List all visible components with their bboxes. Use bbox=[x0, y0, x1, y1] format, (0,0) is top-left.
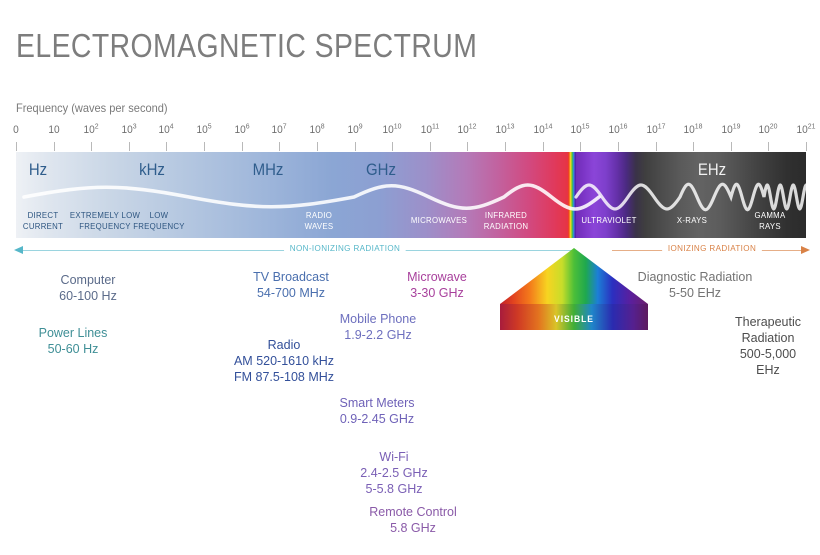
axis-tick-label: 107 bbox=[272, 124, 287, 136]
axis-tick-mark bbox=[317, 142, 318, 151]
annotation-mobile-phone: Mobile Phone 1.9-2.2 GHz bbox=[340, 311, 416, 343]
annotation-power-lines: Power Lines 50-60 Hz bbox=[39, 325, 108, 357]
spectrum-region-label: ULTRAVIOLET bbox=[581, 215, 636, 226]
axis-tick-label: 1017 bbox=[646, 124, 665, 136]
axis-tick-mark bbox=[242, 142, 243, 151]
axis-tick-mark bbox=[467, 142, 468, 151]
axis-tick-label: 1012 bbox=[458, 124, 477, 136]
annotation-radio: Radio AM 520-1610 kHz FM 87.5-108 MHz bbox=[234, 337, 334, 385]
spectrum-region-label: INFRARED RADIATION bbox=[484, 210, 528, 231]
spectrum-region-label: MICROWAVES bbox=[411, 215, 467, 226]
frequency-unit-label: MHz bbox=[253, 160, 284, 180]
axis-tick-label: 102 bbox=[84, 124, 99, 136]
spectrum-band: HzkHzMHzGHzEHz DIRECT CURRENTEXTREMELY L… bbox=[16, 152, 806, 238]
axis-tick-label: 1021 bbox=[797, 124, 816, 136]
axis-tick-mark bbox=[204, 142, 205, 151]
axis-tick-mark bbox=[618, 142, 619, 151]
non-ionizing-label: NON-IONIZING RADIATION bbox=[284, 243, 406, 253]
annotation-microwave: Microwave 3-30 GHz bbox=[407, 269, 467, 301]
axis-tick-mark bbox=[16, 142, 17, 151]
axis-tick-mark bbox=[91, 142, 92, 151]
frequency-unit-label: EHz bbox=[698, 160, 726, 180]
axis-tick-label: 105 bbox=[197, 124, 212, 136]
axis-tick-label: 1016 bbox=[608, 124, 627, 136]
ionizing-arrowhead bbox=[801, 246, 810, 254]
frequency-unit-label: Hz bbox=[29, 160, 47, 180]
annotation-computer: Computer 60-100 Hz bbox=[59, 272, 117, 304]
axis-tick-mark bbox=[731, 142, 732, 151]
axis-tick-label: 1011 bbox=[421, 124, 439, 136]
axis-tick-mark bbox=[355, 142, 356, 151]
axis-tick-mark bbox=[392, 142, 393, 151]
spectrum-region-label: DIRECT CURRENT bbox=[23, 210, 63, 231]
annotation-smart-meters: Smart Meters 0.9-2.45 GHz bbox=[339, 395, 414, 427]
axis-tick-label: 1013 bbox=[496, 124, 515, 136]
axis-tick-label: 1018 bbox=[684, 124, 703, 136]
axis-tick-mark bbox=[505, 142, 506, 151]
axis-tick-label: 106 bbox=[234, 124, 249, 136]
spectrum-region-label: RADIO WAVES bbox=[305, 210, 334, 231]
frequency-unit-label: GHz bbox=[366, 160, 396, 180]
frequency-axis-caption: Frequency (waves per second) bbox=[16, 101, 168, 115]
frequency-unit-label: kHz bbox=[139, 160, 165, 180]
visible-label: VISIBLE bbox=[554, 314, 594, 324]
axis-tick-label: 0 bbox=[13, 124, 19, 136]
spectrum-region-label: X-RAYS bbox=[677, 215, 707, 226]
axis-tick-mark bbox=[656, 142, 657, 151]
axis-tick-mark bbox=[166, 142, 167, 151]
frequency-axis-tick-marks bbox=[0, 142, 820, 152]
annotation-remote-control: Remote Control 5.8 GHz bbox=[369, 504, 457, 536]
spectrum-region-label: GAMMA RAYS bbox=[755, 210, 786, 231]
axis-tick-mark bbox=[806, 142, 807, 151]
axis-tick-label: 104 bbox=[159, 124, 174, 136]
axis-tick-label: 1019 bbox=[721, 124, 740, 136]
axis-tick-mark bbox=[543, 142, 544, 151]
axis-tick-label: 1020 bbox=[759, 124, 778, 136]
axis-tick-label: 1015 bbox=[571, 124, 590, 136]
non-ionizing-arrowhead bbox=[14, 246, 23, 254]
ionizing-label: IONIZING RADIATION bbox=[662, 243, 762, 253]
annotation-tv-broadcast: TV Broadcast 54-700 MHz bbox=[253, 269, 329, 301]
frequency-axis-tick-labels: 0101021031041051061071081091010101110121… bbox=[0, 124, 820, 142]
axis-tick-label: 1010 bbox=[383, 124, 402, 136]
axis-tick-label: 1014 bbox=[533, 124, 552, 136]
axis-tick-mark bbox=[279, 142, 280, 151]
annotation-wifi: Wi-Fi 2.4-2.5 GHz 5-5.8 GHz bbox=[360, 449, 427, 497]
electromagnetic-spectrum-infographic: ELECTROMAGNETIC SPECTRUM Frequency (wave… bbox=[0, 0, 820, 555]
axis-tick-mark bbox=[54, 142, 55, 151]
axis-tick-label: 10 bbox=[48, 124, 59, 136]
annotation-diagnostic-radiation: Diagnostic Radiation 5-50 EHz bbox=[638, 269, 753, 301]
axis-tick-mark bbox=[693, 142, 694, 151]
axis-tick-mark bbox=[580, 142, 581, 151]
axis-tick-mark bbox=[129, 142, 130, 151]
spectrum-region-label: LOW FREQUENCY bbox=[133, 210, 185, 231]
spectrum-region-label: EXTREMELY LOW FREQUENCY bbox=[70, 210, 140, 231]
axis-tick-mark bbox=[430, 142, 431, 151]
axis-tick-label: 103 bbox=[121, 124, 136, 136]
axis-tick-mark bbox=[768, 142, 769, 151]
radiation-type-axis: NON-IONIZING RADIATION IONIZING RADIATIO… bbox=[0, 243, 820, 259]
axis-tick-label: 109 bbox=[347, 124, 362, 136]
axis-tick-label: 108 bbox=[309, 124, 324, 136]
annotation-therapeutic-radiation: Therapeutic Radiation 500-5,000 EHz bbox=[735, 314, 801, 378]
page-title: ELECTROMAGNETIC SPECTRUM bbox=[16, 27, 477, 65]
